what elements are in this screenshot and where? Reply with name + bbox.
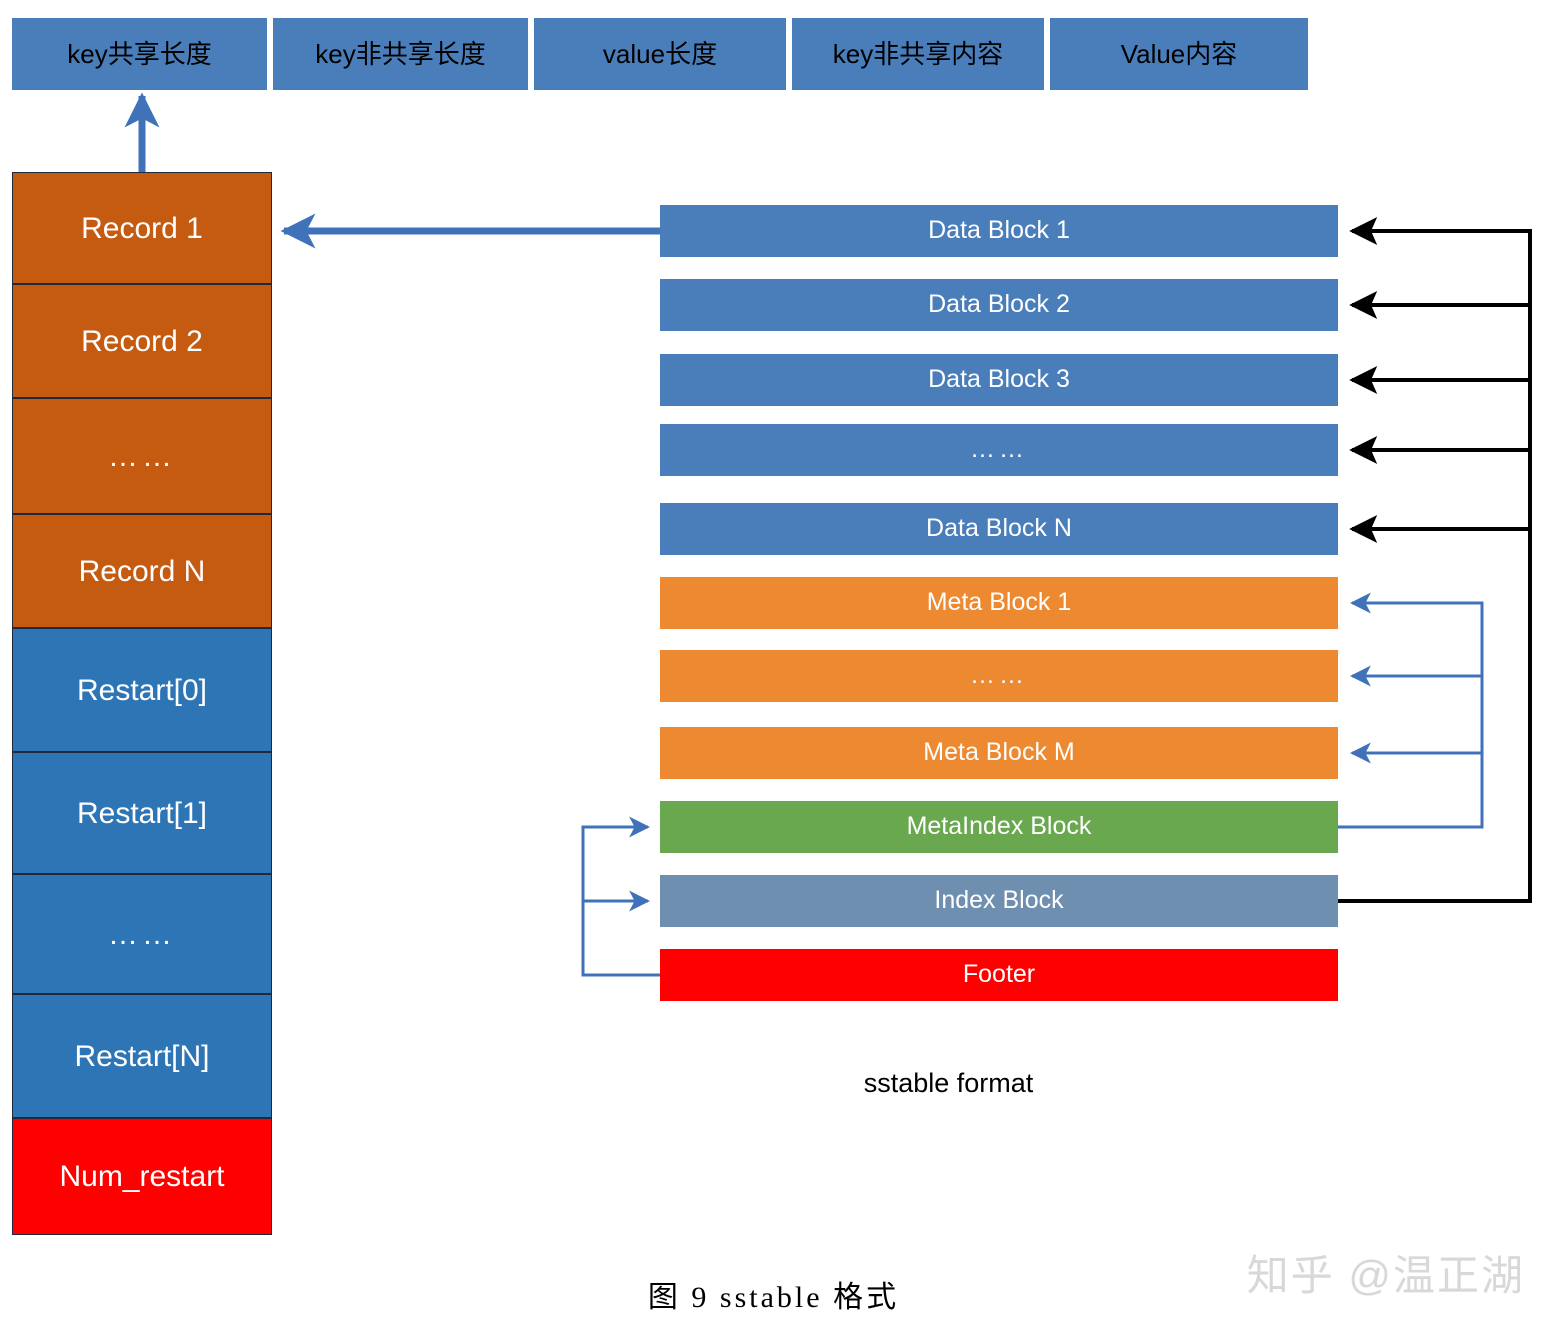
sstable-block: Meta Block 1: [660, 577, 1338, 629]
block-format-item: Restart[N]: [12, 994, 272, 1118]
sstable-block-label: Footer: [963, 961, 1035, 989]
block-format-item-label: ……: [108, 440, 176, 473]
block-format-item-label: Record 2: [81, 325, 203, 358]
block-format-item: Num_restart: [12, 1118, 272, 1235]
block-format-item-label: ……: [108, 918, 176, 951]
sstable-block: Data Block 1: [660, 205, 1338, 257]
sstable-block-label: Data Block 1: [928, 217, 1070, 245]
record-format-cell: Value内容: [1050, 18, 1308, 90]
watermark: 知乎 @温正湖: [1247, 1242, 1525, 1303]
sstable-block: ……: [660, 650, 1338, 702]
sstable-block-label: Index Block: [934, 887, 1063, 915]
sstable-block: MetaIndex Block: [660, 801, 1338, 853]
sstable-block-label: ……: [970, 662, 1028, 690]
sstable-block-label: Data Block 2: [928, 291, 1070, 319]
sstable-block: Meta Block M: [660, 727, 1338, 779]
block-format-item-label: Restart[0]: [77, 674, 207, 707]
block-format-item: Record 1: [12, 172, 272, 284]
block-format-item-label: Restart[1]: [77, 797, 207, 830]
index-block-to-data-blocks-connector: [1338, 231, 1530, 901]
block-format-item: Restart[0]: [12, 628, 272, 752]
block-format-item: ……: [12, 398, 272, 514]
block-format-item: Record N: [12, 514, 272, 628]
record-format-cell: key共享长度: [12, 18, 270, 90]
sstable-format-label: sstable format: [0, 1068, 1547, 1099]
block-format-item: ……: [12, 874, 272, 994]
metaindex-block-to-meta-blocks-connector: [1338, 603, 1482, 827]
sstable-block-label: Data Block N: [926, 515, 1072, 543]
sstable-block: Data Block 2: [660, 279, 1338, 331]
record-format-cell: value长度: [534, 18, 789, 90]
sstable-block: Footer: [660, 949, 1338, 1001]
block-format-item: Restart[1]: [12, 752, 272, 874]
record-format-cell: key非共享长度: [273, 18, 531, 90]
sstable-block-label: MetaIndex Block: [907, 813, 1092, 841]
diagram-canvas: key共享长度key非共享长度value长度key非共享内容Value内容 Re…: [0, 0, 1547, 1329]
block-format-item: Record 2: [12, 284, 272, 398]
block-format-item-label: Record 1: [81, 212, 203, 245]
sstable-block-label: Data Block 3: [928, 366, 1070, 394]
record-format-cell: key非共享内容: [792, 18, 1047, 90]
sstable-block-label: Meta Block M: [923, 739, 1074, 767]
sstable-block: Index Block: [660, 875, 1338, 927]
footer-to-index-blocks-connector: [583, 827, 660, 975]
sstable-block: Data Block 3: [660, 354, 1338, 406]
sstable-block: Data Block N: [660, 503, 1338, 555]
block-format-item-label: Record N: [79, 555, 206, 588]
block-format-item-label: Num_restart: [59, 1160, 224, 1193]
sstable-block: ……: [660, 424, 1338, 476]
sstable-block-label: ……: [970, 436, 1028, 464]
sstable-block-label: Meta Block 1: [927, 589, 1072, 617]
